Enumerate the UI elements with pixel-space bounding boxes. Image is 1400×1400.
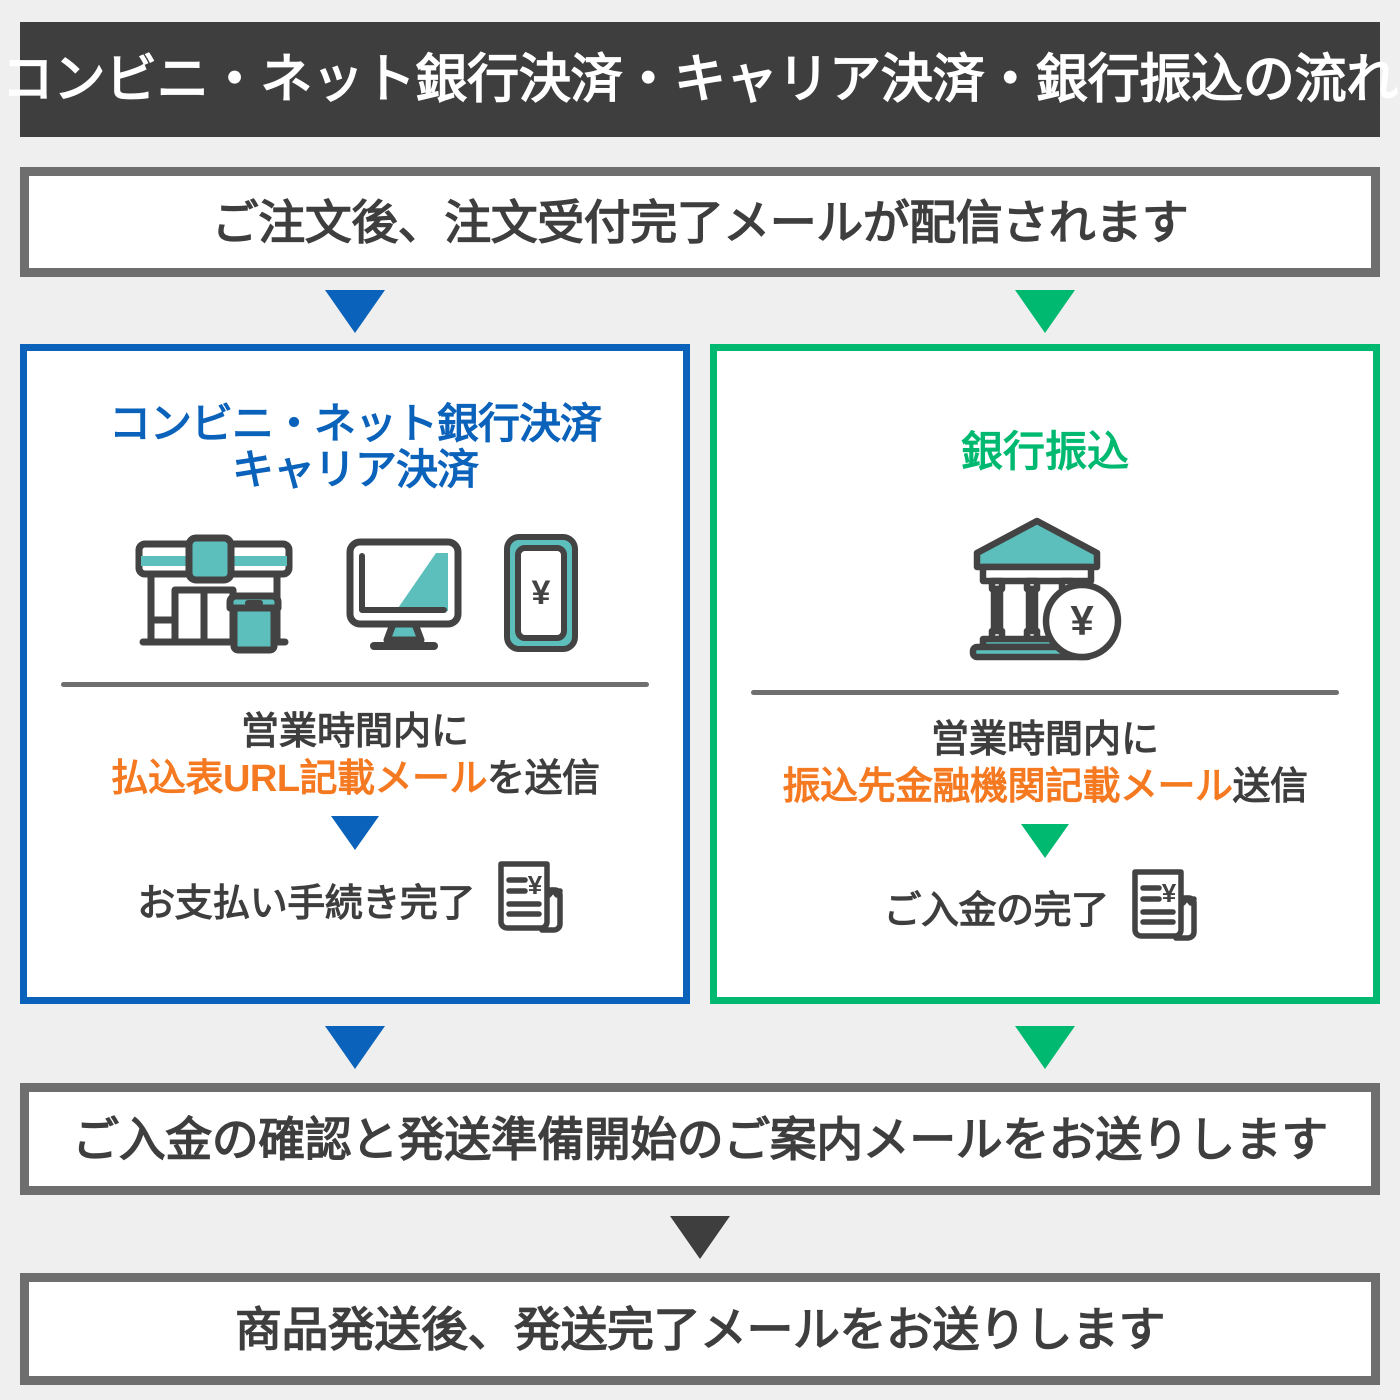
conveni-title-line1: コンビニ・ネット銀行決済	[109, 400, 601, 447]
step-payment-confirm-box: ご入金の確認と発送準備開始のご案内メールをお送りします	[20, 1083, 1380, 1195]
bank-panel-title: 銀行振込	[717, 429, 1373, 475]
bank-note-line1: 営業時間内に	[717, 717, 1373, 763]
diagram-header: コンビニ・ネット銀行決済・キャリア決済・銀行振込の流れ	[20, 22, 1380, 137]
smartphone-yen-icon: ¥	[502, 532, 580, 654]
conveni-note-highlight: 払込表URL記載メール	[110, 758, 487, 800]
conveni-note-line1: 営業時間内に	[27, 709, 683, 755]
receipt-yen-icon: ¥	[1121, 864, 1207, 950]
convenience-store-icon	[131, 534, 306, 654]
bank-divider	[751, 690, 1339, 695]
svg-text:¥: ¥	[1161, 878, 1176, 908]
arrow-down-to-bank-icon	[1015, 290, 1075, 333]
conveni-icon-row: ¥	[27, 529, 683, 654]
desktop-monitor-icon	[344, 536, 464, 654]
bank-complete-text: ご入金の完了	[883, 879, 1108, 934]
conveni-title-line2: キャリア決済	[232, 446, 478, 493]
bank-note-line2: 振込先金融機関記載メール送信	[717, 764, 1373, 810]
arrow-down-from-bank-icon	[1015, 1026, 1075, 1069]
step-order-email-text: ご注文後、注文受付完了メールが配信されます	[212, 199, 1189, 246]
conveni-complete-row: お支払い手続き完了 ¥	[27, 856, 683, 942]
arrow-down-from-conveni-icon	[325, 1026, 385, 1069]
payment-flow-diagram: コンビニ・ネット銀行決済・キャリア決済・銀行振込の流れ ご注文後、注文受付完了メ…	[0, 0, 1400, 1400]
bank-note-highlight: 振込先金融機関記載メール	[782, 766, 1232, 808]
bank-icon-row: ¥	[717, 505, 1373, 665]
conveni-note-suffix: を送信	[487, 758, 600, 800]
conveni-panel-title: コンビニ・ネット銀行決済 キャリア決済	[27, 401, 683, 493]
bank-building-yen-icon: ¥	[959, 515, 1131, 665]
step-order-email-box: ご注文後、注文受付完了メールが配信されます	[20, 167, 1380, 277]
arrow-down-conveni-complete-icon	[331, 816, 379, 850]
receipt-yen-icon: ¥	[487, 856, 573, 942]
panel-convenience-payment: コンビニ・ネット銀行決済 キャリア決済	[20, 344, 690, 1004]
svg-text:¥: ¥	[1070, 597, 1094, 644]
conveni-complete-text: お支払い手続き完了	[137, 872, 475, 927]
panel-bank-transfer: 銀行振込	[710, 344, 1380, 1004]
bank-note: 営業時間内に 振込先金融機関記載メール送信	[717, 717, 1373, 810]
svg-text:¥: ¥	[531, 574, 550, 612]
step-shipped-email-box: 商品発送後、発送完了メールをお送りします	[20, 1273, 1380, 1385]
arrow-down-bank-complete-icon	[1021, 824, 1069, 858]
step-payment-confirm-text: ご入金の確認と発送準備開始のご案内メールをお送りします	[72, 1116, 1328, 1163]
bank-inner-arrow-wrap	[717, 824, 1373, 858]
conveni-divider	[61, 682, 649, 687]
svg-text:¥: ¥	[528, 870, 543, 900]
bank-complete-row: ご入金の完了 ¥	[717, 864, 1373, 950]
arrow-down-to-conveni-icon	[325, 290, 385, 333]
conveni-note-line2: 払込表URL記載メールを送信	[27, 756, 683, 802]
bank-note-suffix: 送信	[1233, 766, 1308, 808]
conveni-inner-arrow-wrap	[27, 816, 683, 850]
page-title: コンビニ・ネット銀行決済・キャリア決済・銀行振込の流れ	[2, 53, 1398, 106]
arrow-down-to-shipped-icon	[670, 1216, 730, 1259]
conveni-note: 営業時間内に 払込表URL記載メールを送信	[27, 709, 683, 802]
step-shipped-email-text: 商品発送後、発送完了メールをお送りします	[235, 1306, 1165, 1353]
